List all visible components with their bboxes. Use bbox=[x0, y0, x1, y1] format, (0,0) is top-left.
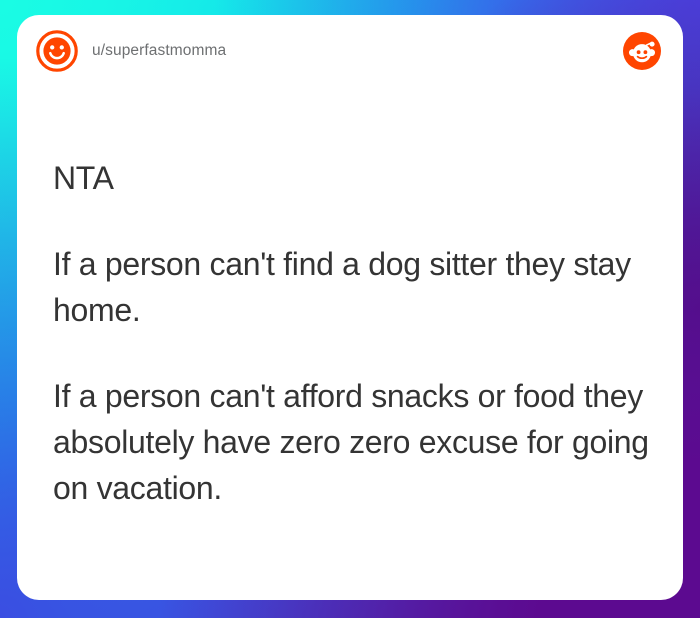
username-label: u/superfastmomma bbox=[92, 42, 226, 60]
post-paragraph: If a person can't find a dog sitter they… bbox=[53, 241, 653, 333]
post-body: NTA If a person can't find a dog sitter … bbox=[53, 155, 653, 511]
screenshot-background: u/superfastmomma NTA If a person can bbox=[0, 0, 700, 618]
reddit-snoo-logo-icon bbox=[623, 32, 661, 70]
post-paragraph: NTA bbox=[53, 155, 653, 201]
reddit-logo-button[interactable] bbox=[623, 32, 661, 70]
smiley-face-avatar-icon bbox=[36, 30, 78, 72]
post-header: u/superfastmomma bbox=[17, 15, 683, 87]
reddit-post-card: u/superfastmomma NTA If a person can bbox=[17, 15, 683, 600]
avatar[interactable] bbox=[36, 30, 78, 72]
post-paragraph: If a person can't afford snacks or food … bbox=[53, 373, 653, 511]
